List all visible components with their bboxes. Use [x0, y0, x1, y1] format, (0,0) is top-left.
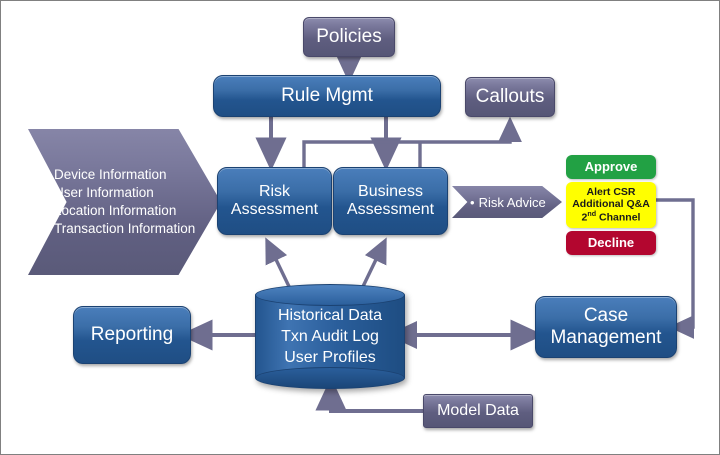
node-risk-assessment-label-line1: Risk — [259, 183, 290, 201]
node-risk-assessment[interactable]: Risk Assessment — [217, 167, 332, 235]
node-reporting-label: Reporting — [91, 324, 173, 346]
node-historical-data-label: Historical Data Txn Audit Log User Profi… — [255, 284, 405, 389]
node-inputs-chevron[interactable]: Device Information User Information Loca… — [28, 129, 221, 275]
node-risk-advice-bullet: • — [470, 195, 475, 210]
node-business-assessment-label-line2: Assessment — [347, 201, 434, 219]
node-model-data[interactable]: Model Data — [423, 394, 533, 428]
edge-model-data-to-historical — [331, 389, 424, 411]
node-reporting[interactable]: Reporting — [73, 306, 191, 364]
node-callouts-label: Callouts — [476, 86, 545, 108]
node-historical-data[interactable]: Historical Data Txn Audit Log User Profi… — [255, 284, 405, 389]
node-business-assessment-label-line1: Business — [358, 183, 423, 201]
node-case-management-label-line2: Management — [551, 327, 662, 349]
node-historical-data-shadow: Historical Data Txn Audit Log User Profi… — [255, 284, 405, 389]
node-risk-assessment-label-line2: Assessment — [231, 201, 318, 219]
node-rule-mgmt[interactable]: Rule Mgmt — [213, 75, 441, 117]
node-policies-label: Policies — [316, 26, 381, 48]
node-case-management[interactable]: Case Management — [535, 296, 677, 358]
diagram-canvas: Policies Rule Mgmt Callouts Device Infor… — [0, 0, 720, 455]
node-historical-data-line2: Txn Audit Log — [281, 326, 379, 347]
node-risk-advice-chevron[interactable]: • Risk Advice — [452, 186, 562, 218]
node-alert-line3: 2nd Channel — [582, 210, 641, 224]
node-alert-line3-sup: nd — [587, 210, 596, 218]
node-alert-line3-post: Channel — [596, 212, 640, 224]
node-callouts[interactable]: Callouts — [465, 77, 555, 117]
node-approve-label: Approve — [585, 159, 638, 174]
edge-assessments-to-callouts — [304, 125, 510, 169]
node-rule-mgmt-label: Rule Mgmt — [281, 85, 373, 107]
list-item: User Information — [54, 184, 195, 202]
node-alert-line2: Additional Q&A — [572, 198, 650, 210]
node-alert-line1: Alert CSR — [586, 186, 635, 198]
node-case-management-label-line1: Case — [584, 305, 628, 327]
node-decline-chip[interactable]: Decline — [566, 231, 656, 255]
node-business-assessment[interactable]: Business Assessment — [333, 167, 448, 235]
node-decline-label: Decline — [588, 235, 634, 250]
list-item: Device Information — [54, 166, 195, 184]
list-item: Transaction Information — [54, 220, 195, 238]
node-approve-chip[interactable]: Approve — [566, 155, 656, 179]
node-historical-data-line1: Historical Data — [278, 305, 382, 326]
list-item: Location Information — [54, 202, 195, 220]
node-historical-data-line3: User Profiles — [284, 347, 376, 368]
node-risk-advice-label: Risk Advice — [479, 195, 546, 210]
node-policies[interactable]: Policies — [303, 17, 395, 57]
node-alert-chip[interactable]: Alert CSR Additional Q&A 2nd Channel — [566, 182, 656, 228]
node-model-data-label: Model Data — [437, 402, 519, 420]
node-inputs-list: Device Information User Information Loca… — [28, 166, 203, 238]
